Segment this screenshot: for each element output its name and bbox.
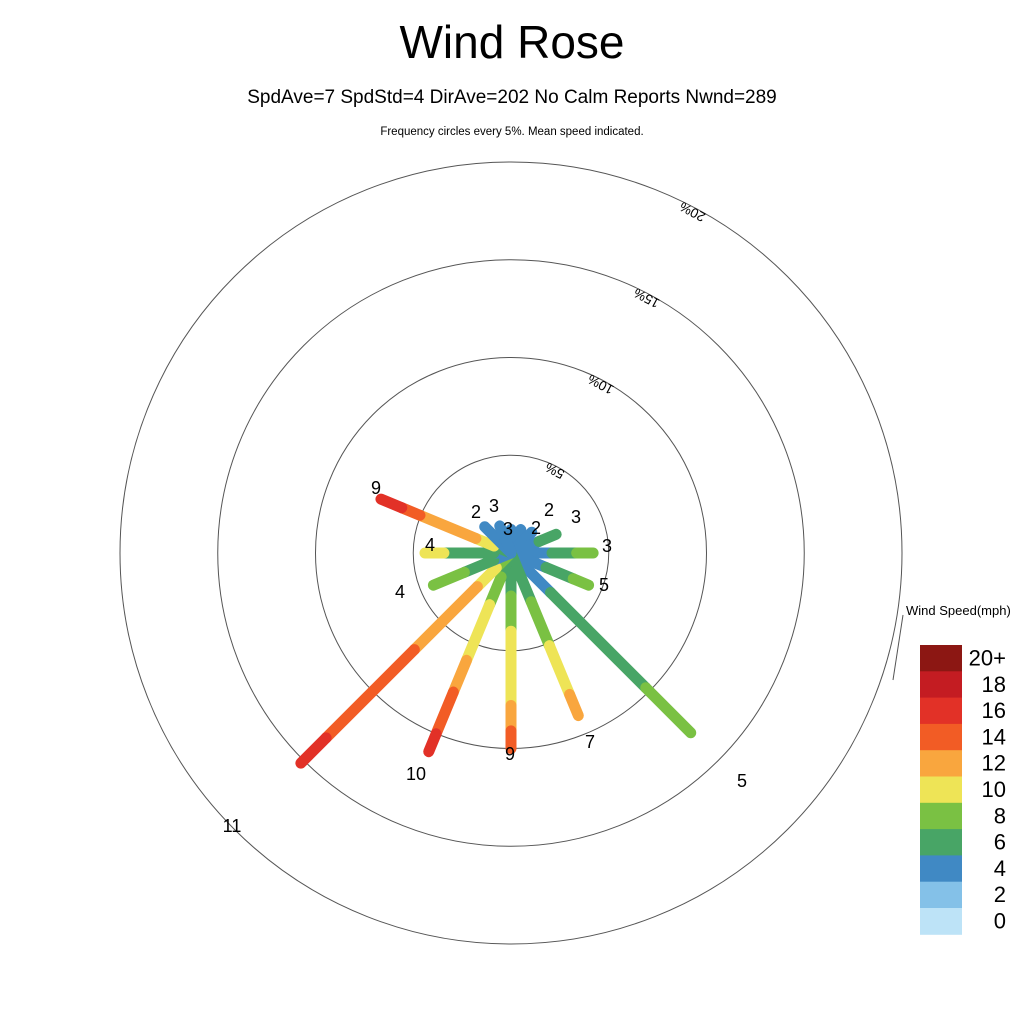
petal-segment-SSE-12	[570, 694, 579, 715]
petal-segment-SE-8	[646, 688, 691, 733]
ring-label-20: 20%	[677, 199, 708, 225]
petal-label-3: 3	[489, 496, 499, 516]
petal-segment-SW-14	[326, 650, 414, 738]
legend-swatch-6	[920, 829, 962, 856]
legend-label-10: 10	[982, 777, 1006, 802]
legend-label-12: 12	[982, 751, 1006, 776]
page-title: Wind Rose	[400, 16, 625, 68]
frequency-note: Frequency circles every 5%. Mean speed i…	[380, 126, 643, 138]
petal-label-12: 11	[223, 816, 242, 836]
ring-label-5: 5%	[543, 459, 567, 481]
legend-swatch-0	[920, 908, 962, 935]
petal-label-6: 3	[602, 536, 612, 556]
legend-label-20+: 20+	[969, 646, 1006, 671]
petal-label-0: 3	[503, 519, 513, 539]
legend-label-0: 0	[994, 909, 1006, 934]
petal-label-13: 4	[395, 582, 405, 602]
ring-labels: 5%10%15%20%	[543, 199, 708, 482]
legend-label-16: 16	[982, 698, 1006, 723]
ring-label-10: 10%	[585, 371, 616, 397]
legend-items: 20+181614121086420	[920, 645, 1006, 935]
petal-segment-WSW-8	[433, 572, 464, 585]
petal-segment-ESE-8	[573, 579, 589, 585]
legend-title: Wind Speed(mph)	[906, 603, 1011, 618]
legend: Wind Speed(mph) 20+181614121086420	[893, 603, 1011, 935]
petal-label-10: 9	[505, 744, 515, 764]
legend-swatch-14	[920, 724, 962, 751]
legend-leader-line	[893, 615, 903, 680]
legend-swatch-18	[920, 671, 962, 698]
petal-segment-ENE-8	[539, 534, 556, 541]
stats-subtitle: SpdAve=7 SpdStd=4 DirAve=202 No Calm Rep…	[247, 87, 777, 108]
petal-segment-SW-16	[301, 738, 326, 763]
petal-segment-WNW-16	[381, 499, 402, 508]
petal-segment-SSW-10	[467, 605, 490, 661]
petal-label-2: 2	[544, 500, 554, 520]
legend-label-8: 8	[994, 803, 1006, 828]
legend-label-18: 18	[982, 672, 1006, 697]
petal-label-14: 4	[425, 535, 435, 555]
petal-label-1: 2	[471, 502, 481, 522]
legend-swatch-2	[920, 882, 962, 909]
legend-label-2: 2	[994, 882, 1006, 907]
wind-rose-svg: Wind Rose SpdAve=7 SpdStd=4 DirAve=202 N…	[0, 0, 1024, 1024]
petal-label-5: 3	[571, 507, 581, 527]
petal-segment-SSE-8	[531, 602, 549, 646]
petal-SW	[301, 553, 511, 763]
legend-swatch-10	[920, 777, 962, 804]
petal-label-15: 9	[371, 478, 381, 498]
petal-segment-SSW-16	[429, 734, 436, 752]
petal-segment-SSE-10	[549, 646, 569, 695]
wind-rose-chart: Wind Rose SpdAve=7 SpdStd=4 DirAve=202 N…	[0, 0, 1024, 1024]
legend-swatch-16	[920, 698, 962, 725]
petal-group	[301, 499, 691, 763]
legend-label-6: 6	[994, 830, 1006, 855]
legend-swatch-20+	[920, 645, 962, 672]
legend-label-4: 4	[994, 856, 1006, 881]
petal-label-7: 5	[599, 575, 609, 595]
legend-swatch-12	[920, 750, 962, 777]
petal-label-8: 5	[737, 771, 747, 791]
legend-label-14: 14	[982, 724, 1006, 749]
legend-swatch-8	[920, 803, 962, 830]
ring-label-15: 15%	[631, 285, 662, 311]
petal-label-9: 7	[585, 732, 595, 752]
petal-label-4: 2	[531, 518, 541, 538]
petal-segment-SSW-14	[436, 692, 453, 734]
petal-label-11: 10	[406, 764, 426, 784]
legend-swatch-4	[920, 855, 962, 882]
